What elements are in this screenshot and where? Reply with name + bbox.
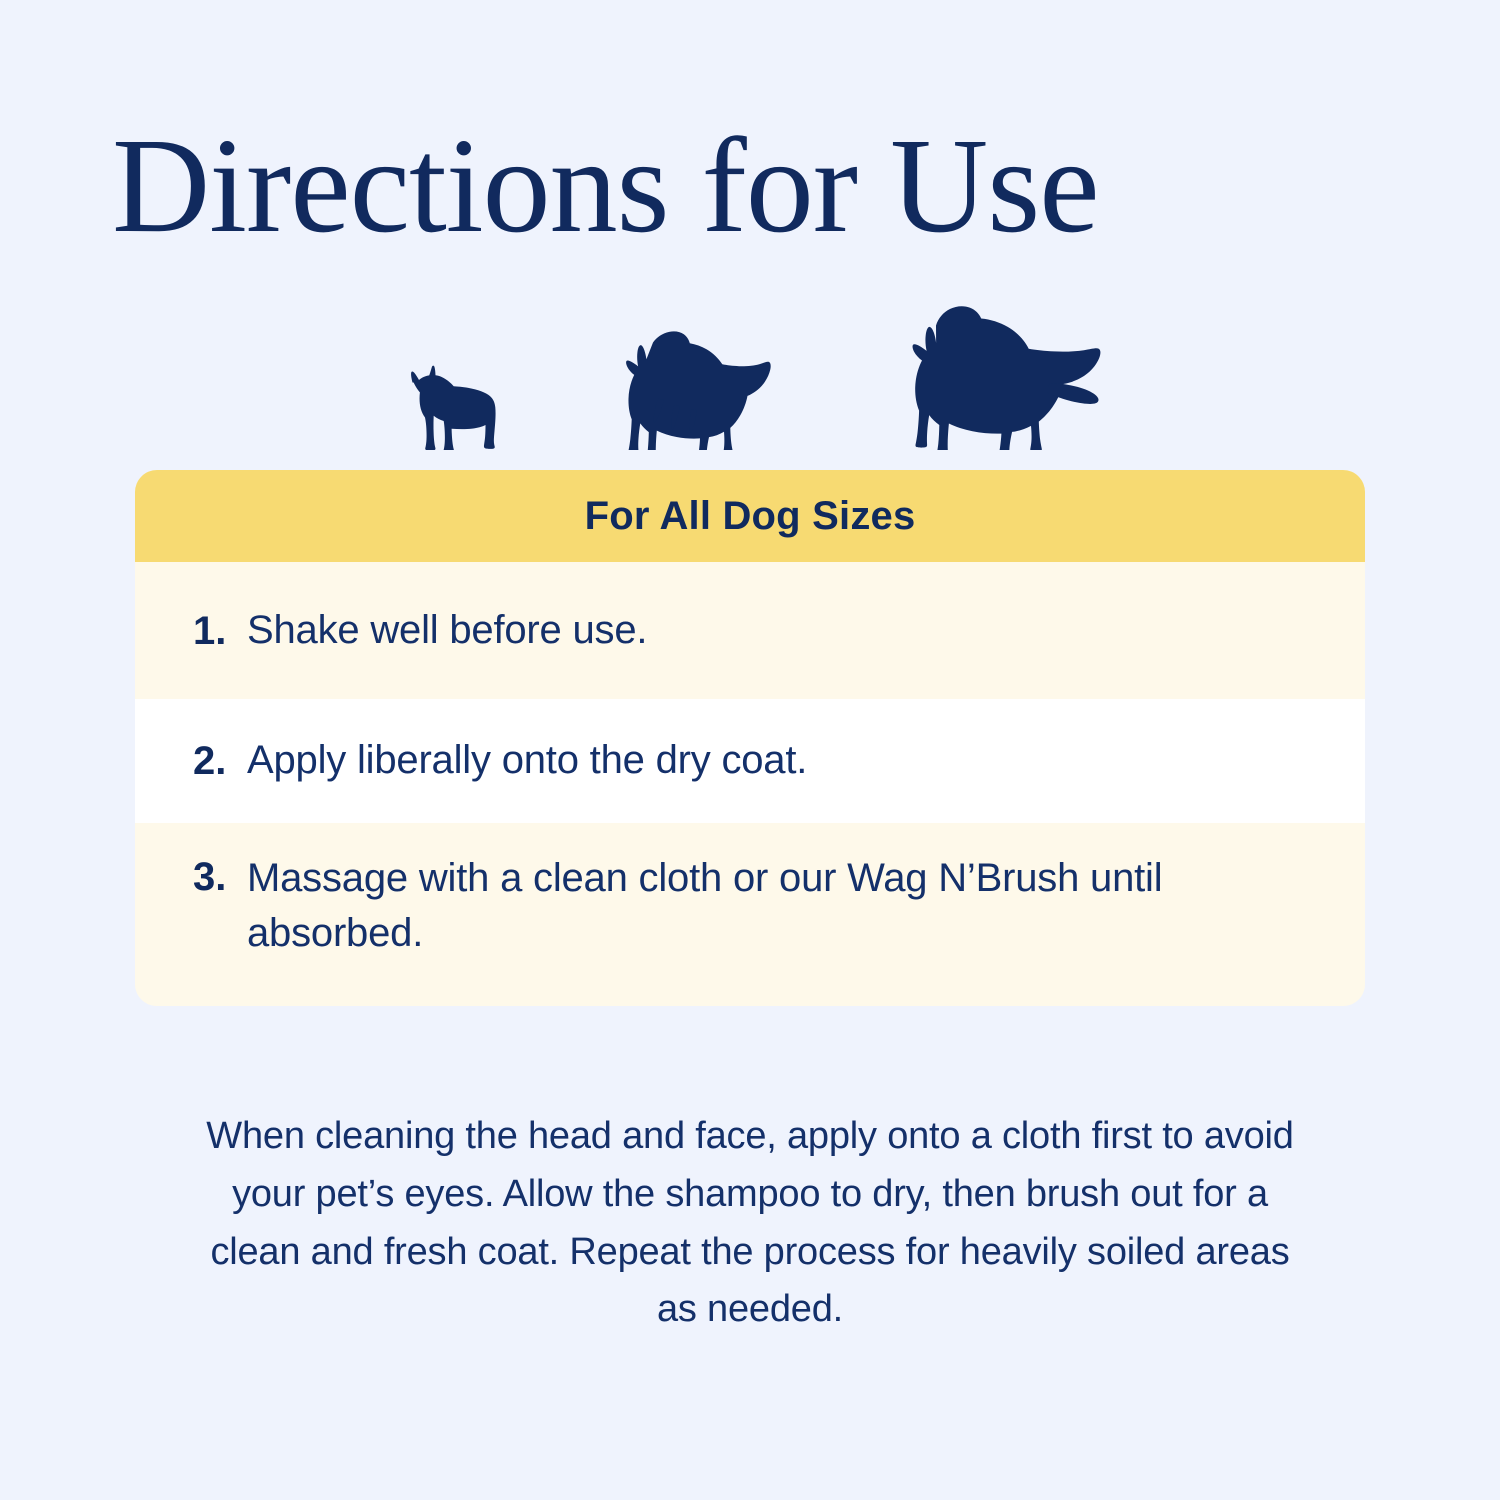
page-title: Directions for Use xyxy=(112,118,1099,254)
step-row: 1. Shake well before use. xyxy=(135,562,1365,699)
step-text: Apply liberally onto the dry coat. xyxy=(247,733,807,788)
step-number: 3. xyxy=(193,851,247,903)
dog-small-icon xyxy=(390,364,508,450)
dog-medium-icon xyxy=(620,328,788,450)
dog-sizes-illustration xyxy=(0,300,1500,450)
step-text: Massage with a clean cloth or our Wag N’… xyxy=(247,851,1307,961)
step-row: 3. Massage with a clean cloth or our Wag… xyxy=(135,823,1365,1006)
step-text: Shake well before use. xyxy=(247,603,647,658)
directions-card: For All Dog Sizes 1. Shake well before u… xyxy=(135,470,1365,1006)
card-banner-title: For All Dog Sizes xyxy=(585,494,916,539)
step-number: 2. xyxy=(193,735,247,787)
step-row: 2. Apply liberally onto the dry coat. xyxy=(135,699,1365,823)
dog-large-icon xyxy=(900,305,1110,450)
step-number: 1. xyxy=(193,605,247,657)
usage-note: When cleaning the head and face, apply o… xyxy=(195,1108,1305,1339)
steps-list: 1. Shake well before use. 2. Apply liber… xyxy=(135,562,1365,1006)
card-banner: For All Dog Sizes xyxy=(135,470,1365,562)
